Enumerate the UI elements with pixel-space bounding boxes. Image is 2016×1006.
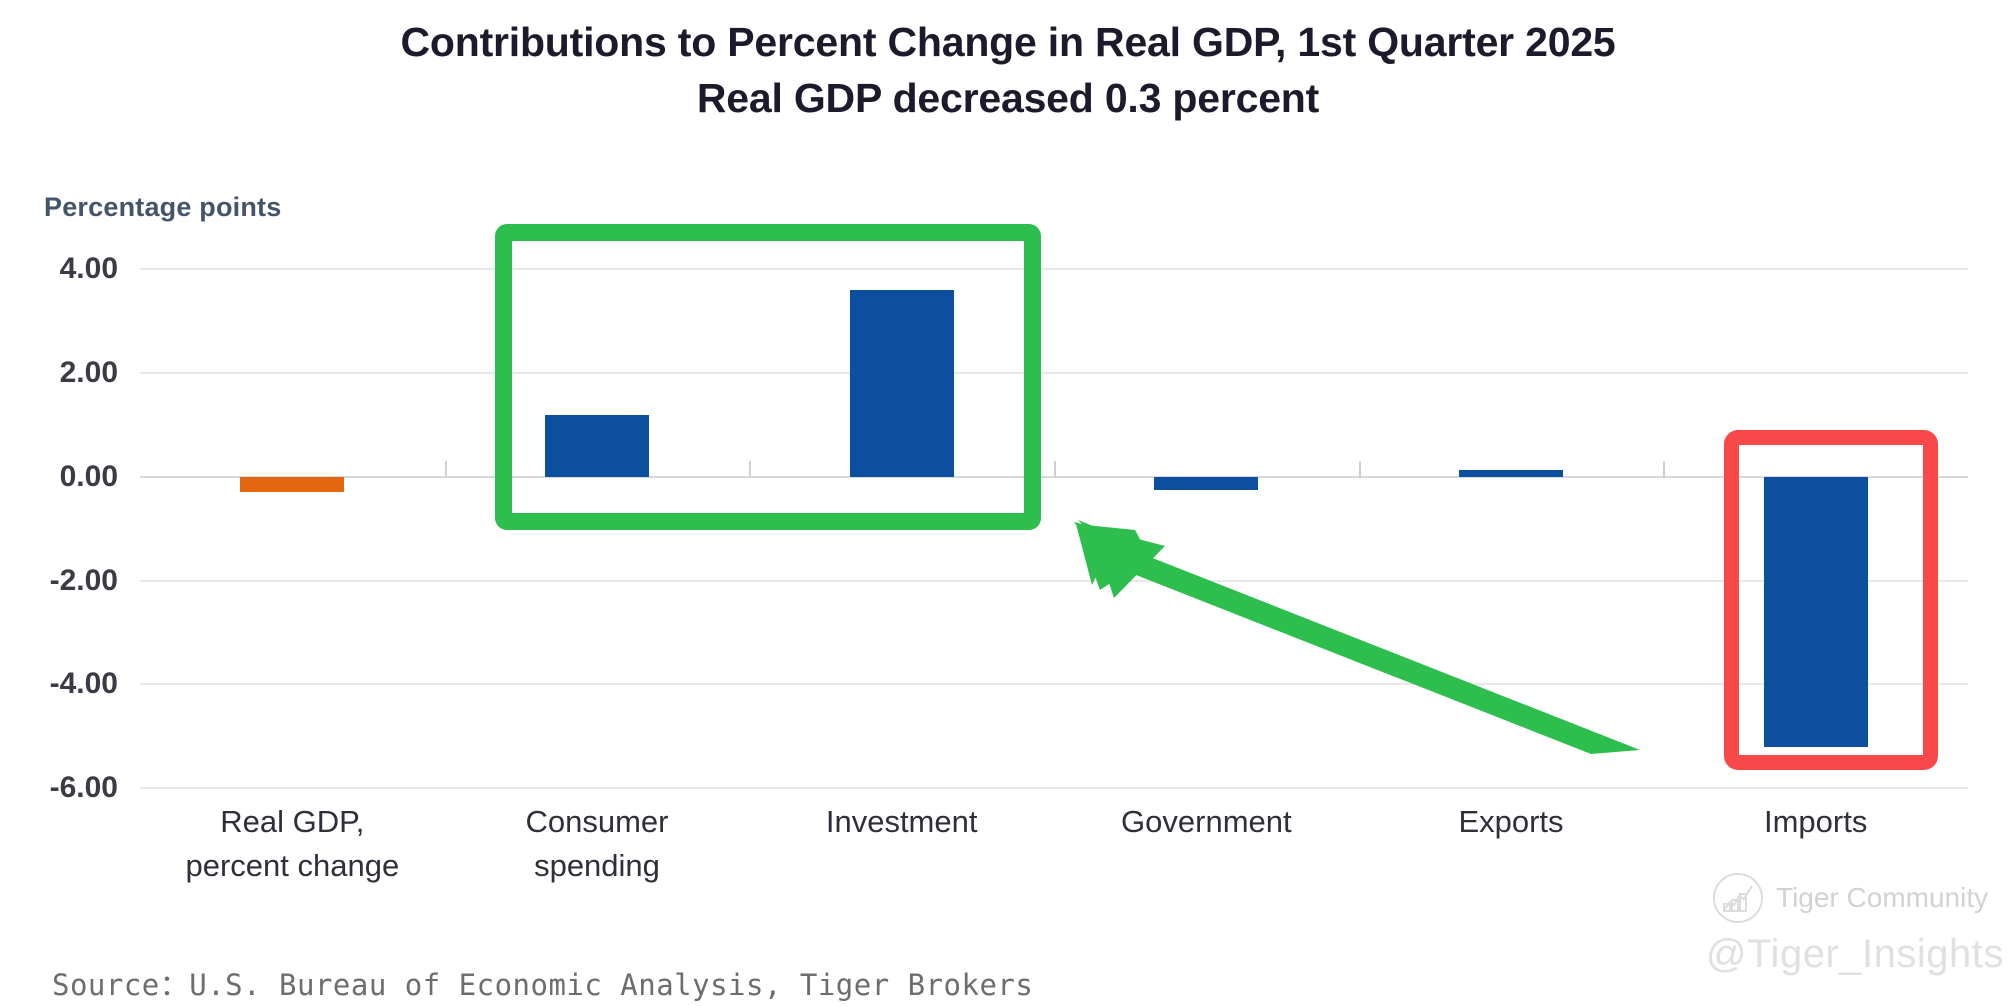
chart-title-block: Contributions to Percent Change in Real … [0, 14, 2016, 126]
watermark-community-label: Tiger Community [1776, 882, 1988, 914]
green-arrow-icon [1040, 490, 1660, 760]
x-axis-category-label: Government [1121, 800, 1292, 844]
gridline [140, 268, 1968, 270]
x-axis-category-label: Exports [1458, 800, 1563, 844]
bar-exports[interactable] [1459, 470, 1563, 477]
gridline [140, 372, 1968, 374]
category-label-line: Government [1121, 800, 1292, 844]
green-highlight-box [495, 224, 1041, 530]
x-axis-tick-mark [1663, 461, 1665, 478]
x-axis-tick-mark [1054, 461, 1056, 478]
watermark-handle: @Tiger_Insights [1706, 932, 2004, 977]
y-axis-unit-caption: Percentage points [44, 192, 281, 223]
x-axis-tick-mark [445, 461, 447, 478]
y-axis-tick-label: 2.00 [60, 356, 118, 390]
category-label-line: Real GDP, [185, 800, 399, 844]
category-label-line: spending [526, 844, 669, 888]
chart-title-line-1: Contributions to Percent Change in Real … [0, 14, 2016, 70]
y-axis-tick-labels: 4.002.000.00-2.00-4.00-6.00 [0, 228, 130, 788]
y-axis-tick-label: -6.00 [50, 771, 118, 805]
chart-subtitle: Real GDP decreased 0.3 percent [0, 70, 2016, 126]
x-axis-category-labels: Real GDP,percent changeConsumerspendingI… [140, 800, 1968, 920]
x-axis-category-label: Consumerspending [526, 800, 669, 888]
x-axis-category-label: Real GDP,percent change [185, 800, 399, 888]
category-label-line: Investment [826, 800, 978, 844]
category-label-line: Imports [1764, 800, 1867, 844]
y-axis-tick-label: 4.00 [60, 252, 118, 286]
source-note: Source：U.S. Bureau of Economic Analysis,… [52, 962, 1033, 1004]
bar-government[interactable] [1154, 477, 1258, 490]
category-label-line: percent change [185, 844, 399, 888]
x-axis-category-label: Investment [826, 800, 978, 844]
y-axis-tick-label: 0.00 [60, 460, 118, 494]
x-axis-category-label: Imports [1764, 800, 1867, 844]
y-axis-tick-label: -2.00 [50, 564, 118, 598]
bar-real-gdp-percent-change[interactable] [240, 477, 344, 493]
watermark-community: Tiger Community [1712, 872, 1988, 924]
tiger-circle-logo-icon [1712, 872, 1764, 924]
category-label-line: Exports [1458, 800, 1563, 844]
x-axis-tick-mark [1359, 461, 1361, 478]
gridline [140, 787, 1968, 789]
y-axis-tick-label: -4.00 [50, 667, 118, 701]
red-highlight-box [1724, 430, 1938, 770]
category-label-line: Consumer [526, 800, 669, 844]
